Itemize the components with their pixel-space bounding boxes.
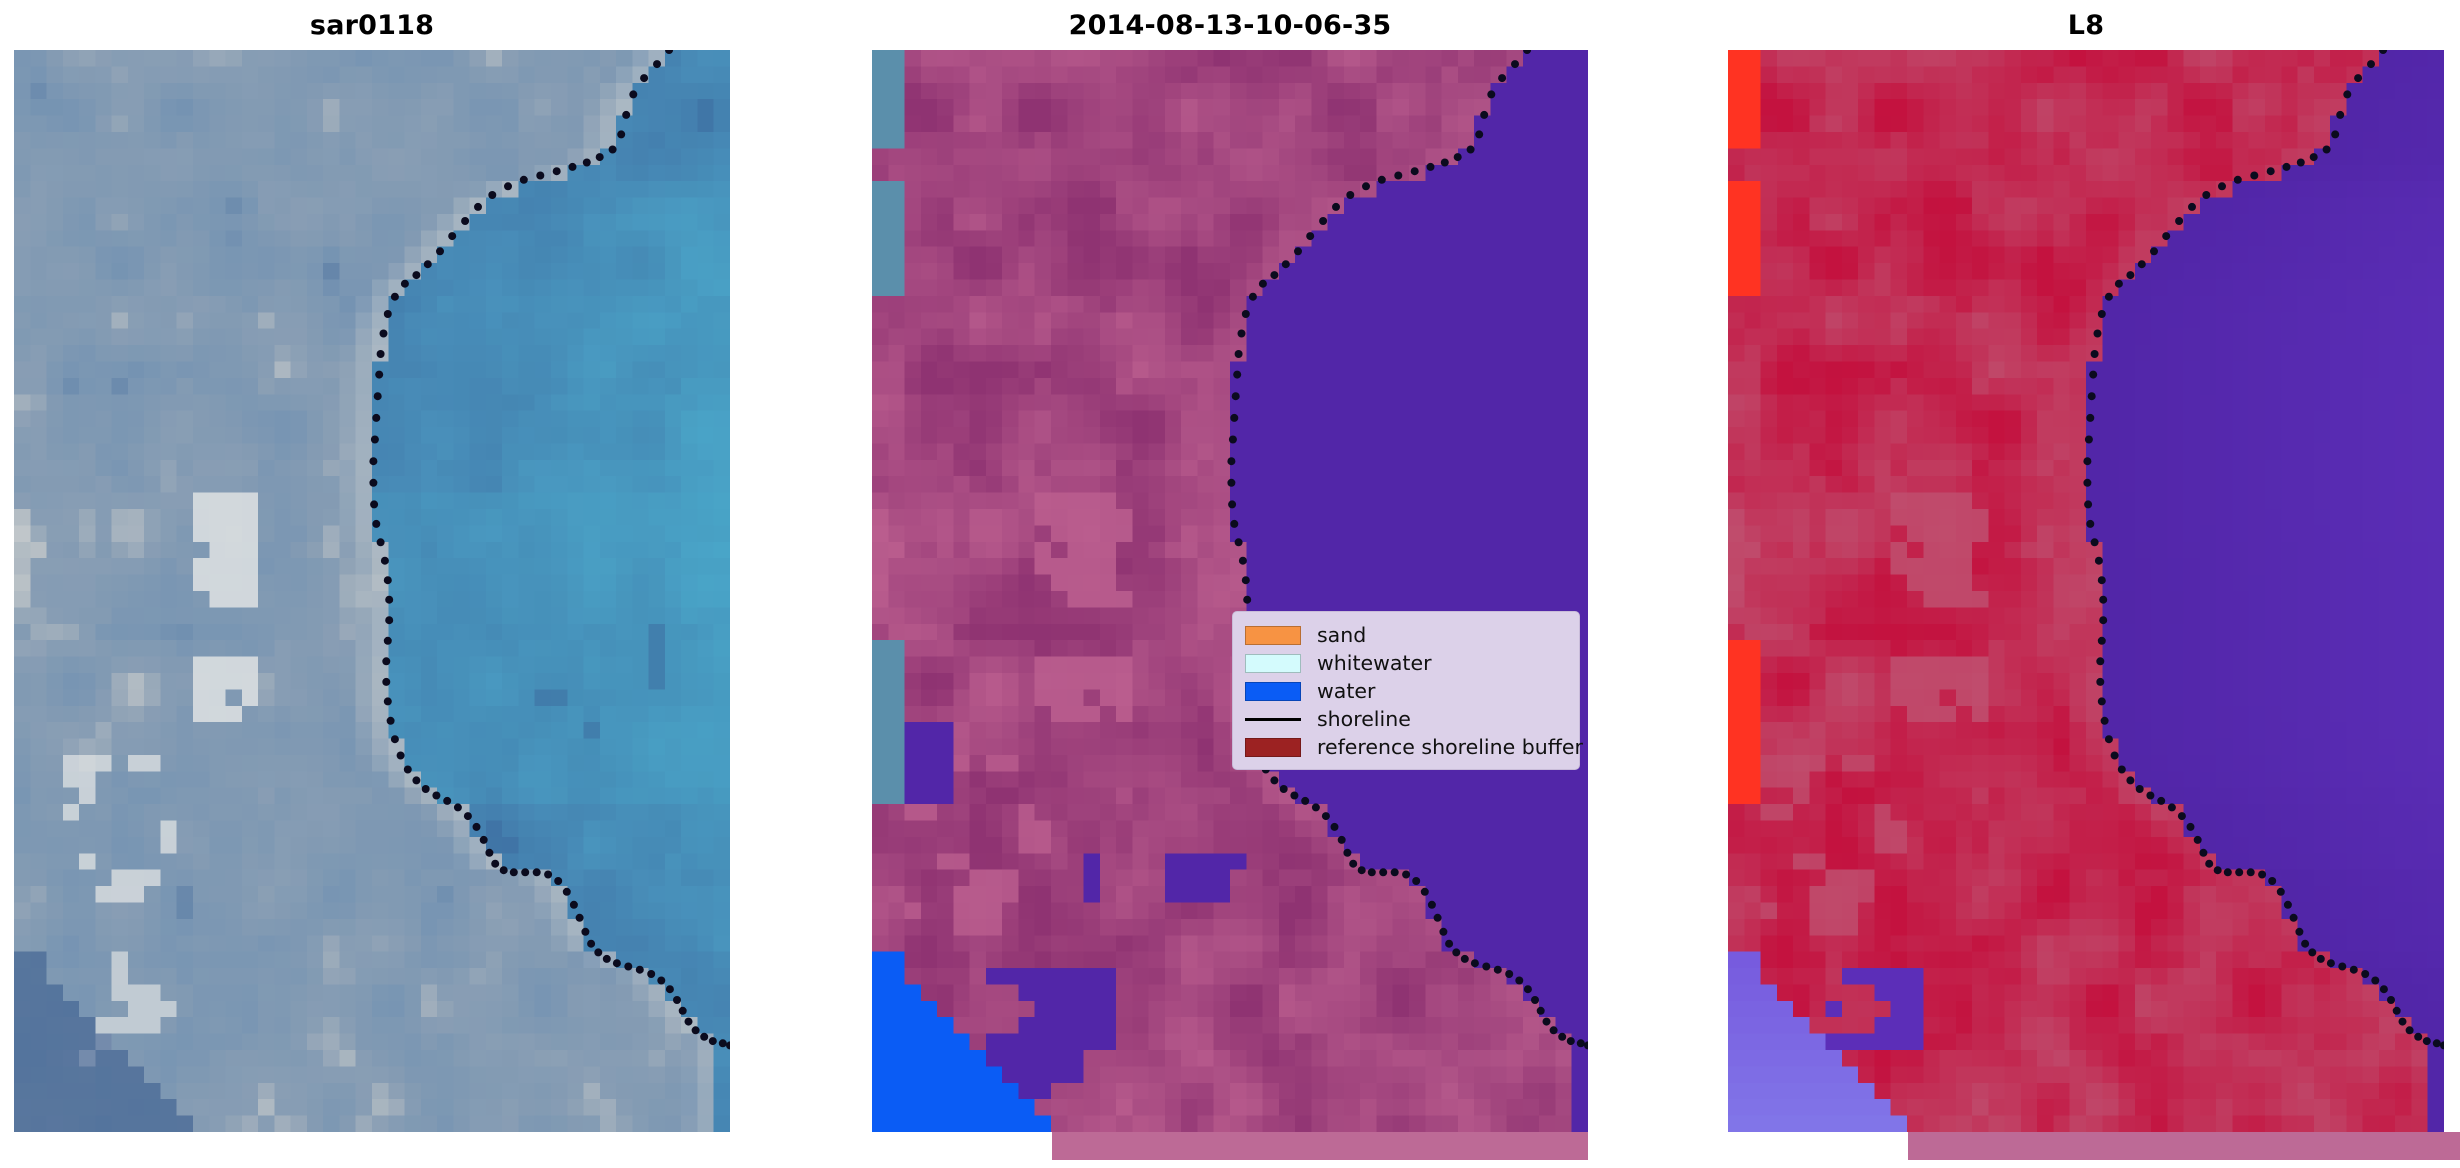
sar-rgb-image (14, 50, 730, 1132)
legend-swatch-shoreline (1245, 718, 1301, 721)
legend-item-shoreline: shoreline (1245, 705, 1569, 733)
panel-l8: L8 (1728, 6, 2444, 1132)
panel-sar-rgb: sar0118 (14, 6, 730, 1132)
legend-swatch-whitewater (1245, 654, 1301, 673)
reference-buffer-strip-l8 (1908, 1132, 2460, 1160)
legend-swatch-sand (1245, 626, 1301, 645)
legend-label-shoreline: shoreline (1317, 705, 1411, 733)
panel-classified: 2014-08-13-10-06-35 (872, 6, 1588, 1132)
legend: sand whitewater water shoreline referenc… (1232, 611, 1580, 770)
classified-image (872, 50, 1588, 1132)
legend-item-sand: sand (1245, 621, 1569, 649)
legend-item-reference-shoreline-buffer: reference shoreline buffer (1245, 733, 1569, 761)
panel-title-classified: 2014-08-13-10-06-35 (872, 6, 1588, 46)
l8-image (1728, 50, 2444, 1132)
reference-buffer-strip-classified (1052, 1132, 1588, 1160)
panel-title-l8: L8 (1728, 6, 2444, 46)
legend-label-reference-shoreline-buffer: reference shoreline buffer (1317, 733, 1583, 761)
legend-item-whitewater: whitewater (1245, 649, 1569, 677)
legend-label-whitewater: whitewater (1317, 649, 1432, 677)
legend-label-sand: sand (1317, 621, 1366, 649)
legend-swatch-water (1245, 682, 1301, 701)
legend-label-water: water (1317, 677, 1375, 705)
figure-canvas: sar0118 2014-08-13-10-06-35 L8 sand whit… (0, 0, 2460, 1168)
legend-item-water: water (1245, 677, 1569, 705)
legend-swatch-reference-shoreline-buffer (1245, 738, 1301, 757)
panel-title-sar: sar0118 (14, 6, 730, 46)
